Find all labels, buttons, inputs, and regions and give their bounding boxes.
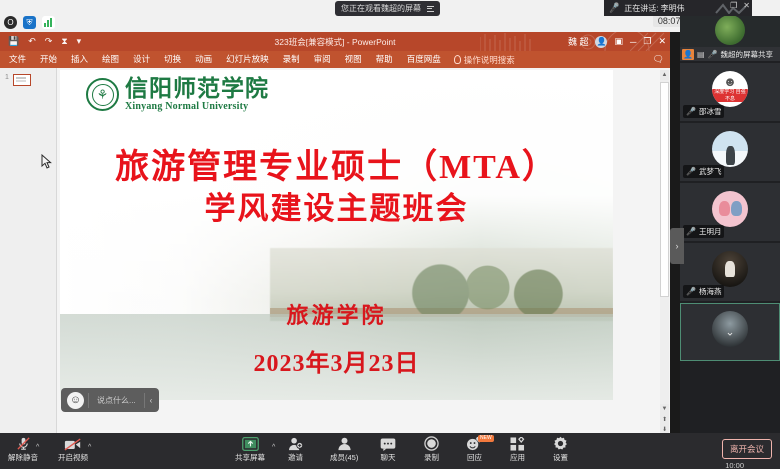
ribbon-tab-animations[interactable]: 动画: [188, 51, 219, 68]
ribbon-tab-draw[interactable]: 绘图: [95, 51, 126, 68]
comment-icon[interactable]: 🗨: [653, 54, 664, 65]
slide-title: 旅游管理专业硕士（MTA） 学风建设主题班会: [60, 147, 613, 228]
slide-editor-area: ⚘ 信阳师范学院 Xinyang Normal University 旅游管理专…: [57, 68, 670, 436]
ribbon-tab-baidu-netdisk[interactable]: 百度网盘: [400, 51, 448, 68]
chat-collapse-icon[interactable]: ‹: [145, 396, 158, 405]
meeting-chat-widget[interactable]: ☺ 说点什么... ‹: [61, 388, 159, 412]
slide-title-line2: 学风建设主题班会: [60, 190, 613, 229]
apps-grid-icon: [510, 436, 525, 451]
meeting-timer: 10:00: [725, 461, 744, 469]
slide-date: 2023年3月23日: [60, 343, 613, 378]
toolbar-label: 成员(45): [330, 452, 358, 463]
chevron-down-icon[interactable]: ⌄: [725, 326, 734, 339]
mic-muted-icon: 🎤: [686, 287, 696, 296]
participant-name: 武梦飞: [699, 166, 722, 177]
ribbon-tab-insert[interactable]: 插入: [64, 51, 95, 68]
ppt-titlebar: 💾 ↶ ↷ ⧗ ▾ 323班会[兼容模式] - PowerPoint 魏 超 👤…: [0, 32, 670, 51]
settings-button[interactable]: 设置: [553, 436, 568, 463]
ribbon-tab-slideshow[interactable]: 幻灯片放映: [219, 51, 276, 68]
smiley-icon[interactable]: ☺: [67, 392, 84, 409]
video-icon: ▤: [697, 50, 705, 59]
opera-icon[interactable]: O: [4, 16, 17, 29]
share-options-caret-icon[interactable]: ^: [272, 444, 275, 451]
active-speaker-label: 正在讲话: 李明伟: [624, 3, 684, 14]
slide-thumbnail-item[interactable]: 1: [0, 74, 56, 86]
slide-organization: 旅游学院: [60, 298, 613, 330]
viewing-screen-pill[interactable]: 您正在观看魏超的屏幕: [335, 1, 440, 16]
avatar[interactable]: 👤: [595, 36, 607, 48]
mic-muted-icon: 🎤: [686, 227, 696, 236]
audio-options-caret-icon[interactable]: ^: [36, 444, 39, 451]
mic-icon: 🎤: [708, 50, 718, 59]
toolbar-label: 邀请: [288, 452, 303, 463]
slide-thumbnail[interactable]: [13, 74, 31, 86]
avatar: [712, 251, 748, 287]
screen-share-badge: 👤 ▤ 🎤 魏超的屏幕共享: [680, 47, 780, 61]
toolbar-label: 回应: [467, 452, 482, 463]
scroll-up-icon[interactable]: ▲: [660, 70, 669, 80]
toolbar-label: 设置: [553, 452, 568, 463]
unmute-button[interactable]: 解除静音: [8, 436, 38, 463]
university-logo: ⚘ 信阳师范学院 Xinyang Normal University: [86, 77, 269, 112]
slide-number: 1: [5, 74, 9, 81]
slide-subtitle: 旅游学院 2023年3月23日: [60, 298, 613, 378]
ppt-body: 1: [0, 68, 670, 436]
chat-button[interactable]: 聊天: [380, 436, 396, 463]
panel-collapse-handle[interactable]: ›: [670, 228, 684, 264]
network-bars-icon[interactable]: [42, 16, 55, 29]
invite-button[interactable]: 邀请: [288, 436, 303, 463]
ribbon-tab-review[interactable]: 审阅: [307, 51, 338, 68]
close-icon[interactable]: ✕: [743, 1, 750, 10]
chat-input[interactable]: 说点什么...: [88, 393, 145, 408]
participant-name: 王明月: [699, 226, 722, 237]
invite-person-icon: [288, 436, 303, 451]
participants-button[interactable]: 成员(45): [330, 436, 358, 463]
toolbar-label: 应用: [510, 452, 525, 463]
toolbar-label: 聊天: [381, 452, 396, 463]
avatar: ☻ 深度学习 自强不息: [712, 71, 748, 107]
viewing-pill-label: 您正在观看魏超的屏幕: [341, 3, 421, 14]
ribbon-tab-help[interactable]: 帮助: [369, 51, 400, 68]
restore-icon[interactable]: ❐: [643, 36, 651, 47]
ribbon-tab-design[interactable]: 设计: [126, 51, 157, 68]
avatar: [712, 191, 748, 227]
ribbon-tab-transitions[interactable]: 切换: [157, 51, 188, 68]
scroll-down-icon[interactable]: ▼: [660, 404, 669, 414]
previous-slide-icon[interactable]: ⬆: [660, 414, 669, 424]
seal-glyph: ⚘: [97, 88, 109, 101]
chip-window-buttons: ❐ ✕: [730, 1, 750, 10]
participants-icon: [337, 436, 352, 451]
share-screen-button[interactable]: 共享屏幕: [235, 436, 265, 463]
participant-tile-active[interactable]: ⌄: [680, 303, 780, 361]
scrollbar-thumb[interactable]: [660, 82, 669, 297]
toolbar-label: 开启视频: [58, 452, 88, 463]
toolbar-label: 共享屏幕: [235, 452, 265, 463]
video-options-caret-icon[interactable]: ^: [88, 444, 91, 451]
record-icon: [424, 436, 439, 451]
mic-muted-icon: 🎤: [686, 167, 696, 176]
editor-scrollbar[interactable]: ▲ ▼ ⬆ ⬇: [660, 70, 669, 434]
minimize-icon[interactable]: ─: [630, 37, 636, 47]
apps-button[interactable]: 应用: [510, 436, 525, 463]
mic-muted-icon: 🎤: [686, 107, 696, 116]
screen-share-icon: [242, 436, 259, 451]
ppt-ribbon-tabs: 文件 开始 插入 绘图 设计 切换 动画 幻灯片放映 录制 审阅 视图 帮助 百…: [0, 51, 670, 68]
powerpoint-window: 💾 ↶ ↷ ⧗ ▾ 323班会[兼容模式] - PowerPoint 魏 超 👤…: [0, 32, 670, 436]
participant-rail[interactable]: 👤 ▤ 🎤 魏超的屏幕共享 ☻ 深度学习 自强不息 🎤 邵冰雪 🎤: [680, 16, 780, 433]
reactions-button[interactable]: NEW 回应: [466, 436, 483, 463]
participant-name: 魏超的屏幕共享: [721, 49, 774, 60]
ribbon-tab-view[interactable]: 视图: [338, 51, 369, 68]
ppt-window-controls: 魏 超 👤 ▣ ─ ❐ ✕: [568, 35, 666, 48]
mic-muted-icon: [16, 436, 31, 451]
record-button[interactable]: 录制: [424, 436, 439, 463]
slide-canvas[interactable]: ⚘ 信阳师范学院 Xinyang Normal University 旅游管理专…: [60, 70, 613, 400]
avatar: [715, 16, 745, 45]
participant-tile-wu[interactable]: 🎤 武梦飞: [680, 123, 780, 181]
name-chip: 🎤 武梦飞: [683, 165, 724, 178]
ribbon-tab-record[interactable]: 录制: [276, 51, 307, 68]
mic-muted-icon: 🎤: [608, 2, 621, 14]
participant-tile-share[interactable]: 👤 ▤ 🎤 魏超的屏幕共享: [680, 16, 780, 61]
logo-chinese-name: 信阳师范学院: [125, 77, 269, 101]
name-chip: 🎤 杨海燕: [683, 285, 724, 298]
chat-bubble-icon: [380, 436, 396, 451]
logo-english-name: Xinyang Normal University: [125, 101, 269, 112]
logo-text-block: 信阳师范学院 Xinyang Normal University: [125, 77, 269, 112]
university-seal-icon: ⚘: [86, 78, 119, 111]
start-video-button[interactable]: 开启视频: [58, 436, 88, 463]
account-name: 魏 超: [568, 35, 589, 48]
avatar-tag: 深度学习 自强不息: [712, 89, 748, 102]
avatar: [712, 131, 748, 167]
menu-lines-icon[interactable]: [427, 6, 434, 12]
meeting-toolbar: 解除静音 ^ 开启视频 ^ 共享屏幕: [0, 433, 780, 469]
leave-meeting-button[interactable]: 离开会议: [722, 439, 772, 459]
security-shield-icon[interactable]: ⛨: [23, 16, 36, 29]
avatar-face: ☻: [723, 75, 737, 88]
ribbon-display-icon[interactable]: ▣: [614, 36, 623, 47]
toolbar-label: 录制: [424, 452, 439, 463]
ribbon-tab-file[interactable]: 文件: [0, 51, 33, 68]
ribbon-search-label: 操作说明搜索: [464, 54, 515, 66]
participant-name: 邵冰雪: [699, 106, 722, 117]
participant-tile-yang[interactable]: 🎤 杨海燕: [680, 243, 780, 301]
toolbar-label: 解除静音: [8, 452, 38, 463]
slide-title-line1: 旅游管理专业硕士（MTA）: [60, 147, 613, 190]
active-speaker-chip[interactable]: 🎤 正在讲话: 李明伟 ❐ ✕: [604, 0, 752, 16]
participant-tile-shao[interactable]: ☻ 深度学习 自强不息 🎤 邵冰雪: [680, 63, 780, 121]
lightbulb-icon: [454, 55, 461, 64]
new-badge: NEW: [478, 435, 494, 442]
slide-thumbnail-pane[interactable]: 1: [0, 68, 57, 436]
video-off-icon: [64, 436, 82, 451]
ribbon-tab-home[interactable]: 开始: [33, 51, 64, 68]
participant-name: 杨海燕: [699, 286, 722, 297]
ribbon-search[interactable]: 操作说明搜索: [448, 54, 515, 66]
tray-icons: O ⛨: [4, 16, 55, 29]
participant-tile-wang[interactable]: 🎤 王明月: [680, 183, 780, 241]
gear-icon: [553, 436, 568, 451]
screen-root: O ⛨ 08:07 演讲者视图 ▾ 您正在观看魏超的屏幕 🎤 正在讲话: 李明伟…: [0, 0, 780, 469]
screen-share-icon: 👤: [682, 49, 694, 60]
name-chip: 🎤 邵冰雪: [683, 105, 724, 118]
name-chip: 🎤 王明月: [683, 225, 724, 238]
close-icon[interactable]: ✕: [658, 36, 666, 47]
restore-window-icon[interactable]: ❐: [730, 1, 737, 10]
